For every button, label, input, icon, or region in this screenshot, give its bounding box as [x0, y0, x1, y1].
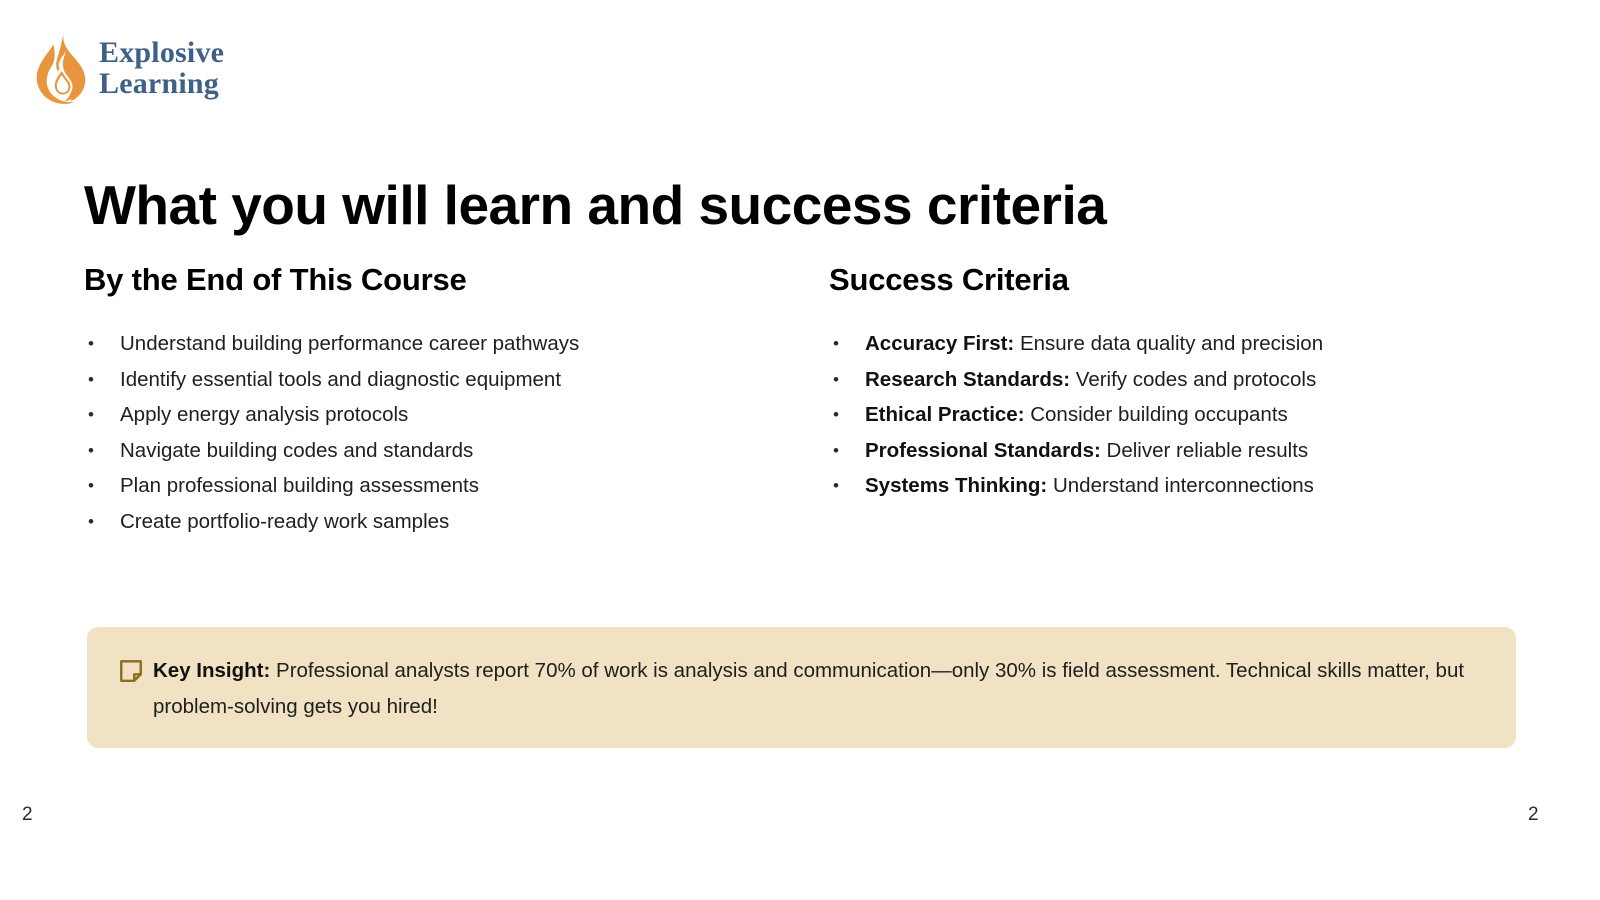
bullet-icon: •: [84, 362, 120, 398]
bullet-icon: •: [84, 397, 120, 433]
list-item-lead: Professional Standards:: [865, 439, 1101, 462]
brand-logo: Explosive Learning: [33, 31, 224, 105]
page-title: What you will learn and success criteria: [84, 173, 1106, 237]
bullet-icon: •: [829, 326, 865, 362]
bullet-icon: •: [829, 468, 865, 504]
list-item: • Understand building performance career…: [84, 326, 800, 362]
list-item: • Research Standards: Verify codes and p…: [829, 362, 1516, 398]
list-item: • Apply energy analysis protocols: [84, 397, 800, 433]
key-insight-text: Key Insight: Professional analysts repor…: [146, 653, 1482, 725]
brand-name-line1: Explosive: [99, 38, 224, 69]
list-item-label: Identify essential tools and diagnostic …: [120, 362, 800, 398]
list-item-label: Create portfolio-ready work samples: [120, 504, 800, 540]
list-item: • Accuracy First: Ensure data quality an…: [829, 326, 1516, 362]
key-insight-callout: Key Insight: Professional analysts repor…: [87, 627, 1516, 748]
bullet-icon: •: [84, 433, 120, 469]
list-item: • Ethical Practice: Consider building oc…: [829, 397, 1516, 433]
list-item-label: Systems Thinking: Understand interconnec…: [865, 468, 1516, 504]
list-item: • Systems Thinking: Understand interconn…: [829, 468, 1516, 504]
list-item-label: Plan professional building assessments: [120, 468, 800, 504]
list-item-detail: Understand interconnections: [1047, 474, 1314, 497]
list-item-detail: Ensure data quality and precision: [1014, 332, 1323, 355]
page-number-left: 2: [22, 804, 33, 826]
sticky-note-icon: [116, 656, 146, 686]
list-item-label: Apply energy analysis protocols: [120, 397, 800, 433]
list-item-detail: Verify codes and protocols: [1070, 368, 1316, 391]
list-item-detail: Consider building occupants: [1025, 403, 1288, 426]
list-item-lead: Accuracy First:: [865, 332, 1014, 355]
bullet-icon: •: [829, 433, 865, 469]
page-number-right: 2: [1528, 804, 1539, 826]
list-item: • Navigate building codes and standards: [84, 433, 800, 469]
flame-icon: [33, 31, 89, 105]
list-item-label: Research Standards: Verify codes and pro…: [865, 362, 1516, 398]
bullet-icon: •: [829, 397, 865, 433]
column-heading-left: By the End of This Course: [84, 262, 800, 298]
list-item-label: Ethical Practice: Consider building occu…: [865, 397, 1516, 433]
list-item-label: Professional Standards: Deliver reliable…: [865, 433, 1516, 469]
list-item-detail: Deliver reliable results: [1101, 439, 1308, 462]
success-criteria-list: • Accuracy First: Ensure data quality an…: [829, 326, 1516, 504]
brand-name-line2: Learning: [99, 69, 224, 100]
list-item: • Create portfolio-ready work samples: [84, 504, 800, 540]
bullet-icon: •: [84, 326, 120, 362]
bullet-icon: •: [829, 362, 865, 398]
key-insight-lead: Key Insight:: [153, 659, 270, 682]
brand-wordmark: Explosive Learning: [99, 36, 224, 99]
list-item-lead: Research Standards:: [865, 368, 1070, 391]
column-learning-outcomes: By the End of This Course • Understand b…: [84, 262, 800, 539]
list-item-label: Accuracy First: Ensure data quality and …: [865, 326, 1516, 362]
list-item-lead: Systems Thinking:: [865, 474, 1047, 497]
content-columns: By the End of This Course • Understand b…: [84, 262, 1516, 539]
list-item-lead: Ethical Practice:: [865, 403, 1025, 426]
list-item: • Professional Standards: Deliver reliab…: [829, 433, 1516, 469]
learning-outcomes-list: • Understand building performance career…: [84, 326, 800, 539]
bullet-icon: •: [84, 504, 120, 540]
list-item: • Plan professional building assessments: [84, 468, 800, 504]
list-item-label: Navigate building codes and standards: [120, 433, 800, 469]
column-success-criteria: Success Criteria • Accuracy First: Ensur…: [800, 262, 1516, 539]
list-item-label: Understand building performance career p…: [120, 326, 800, 362]
bullet-icon: •: [84, 468, 120, 504]
key-insight-detail: Professional analysts report 70% of work…: [153, 659, 1464, 718]
column-heading-right: Success Criteria: [829, 262, 1516, 298]
list-item: • Identify essential tools and diagnosti…: [84, 362, 800, 398]
